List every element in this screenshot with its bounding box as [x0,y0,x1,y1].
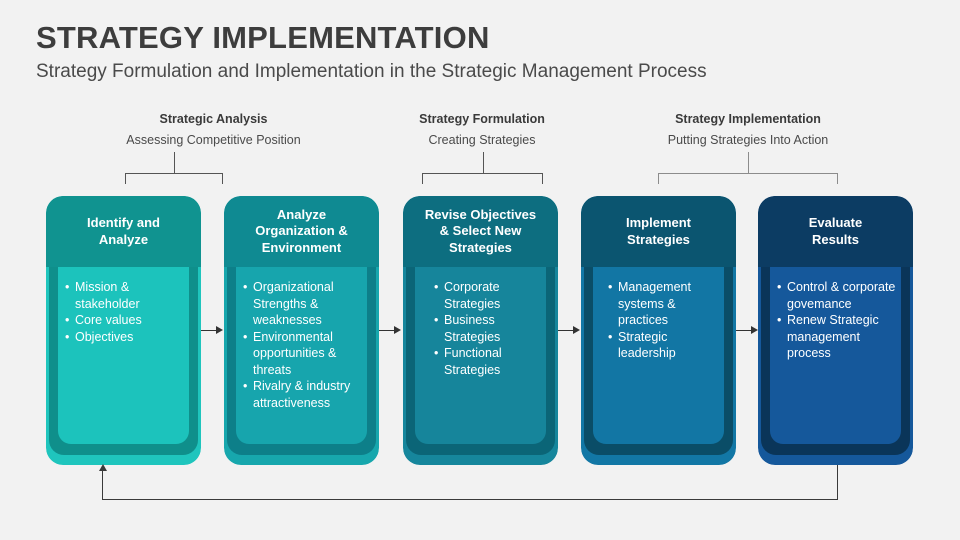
list-item-label: Functional Strategies [444,346,502,377]
step-bullet-list: •Management systems & practices •Strateg… [600,279,719,362]
bracket-tick-right [222,173,223,184]
step-heading: Revise Objectives & Select New Strategie… [417,207,544,257]
list-item: •Core values [65,312,184,329]
arrow-shaft [201,330,217,331]
process-step-analyze-organization-environment[interactable]: •Organizational Strengths & weaknesses •… [224,196,379,465]
bracket-tick-left [658,173,659,184]
flow-arrow-1-to-2 [201,326,223,335]
list-item: •Strategic leadership [608,329,719,362]
step-header: Implement Strategies [581,196,736,267]
step-header: Analyze Organization & Environment [224,196,379,267]
bullet-icon: • [434,345,438,362]
step-bullet-list: •Control & corporate govemance •Renew St… [777,279,896,362]
bullet-icon: • [608,279,612,296]
bracket-bar [658,173,838,174]
bracket-stem [483,152,484,173]
phase-title: Strategic Analysis [112,111,315,127]
bullet-icon: • [65,329,69,346]
bracket-bar [125,173,223,174]
bullet-icon: • [777,279,781,296]
arrow-shaft [736,330,752,331]
step-heading: Analyze Organization & Environment [247,207,355,257]
list-item: •Control & corporate govemance [777,279,896,312]
list-item-label: Strategic leadership [618,330,676,361]
bullet-icon: • [777,312,781,329]
arrow-head-icon [573,326,580,334]
list-item-label: Objectives [75,330,133,344]
step-heading: Evaluate Results [801,215,870,248]
bullet-icon: • [434,279,438,296]
step-panel: •Mission & stakeholder •Core values •Obj… [58,267,189,444]
phase-title: Strategy Implementation [648,111,848,127]
list-item: •Rivalry & industry attractiveness [243,378,362,411]
bullet-icon: • [243,329,247,346]
list-item: •Corporate Strategies [434,279,541,312]
bracket-stem [748,152,749,173]
loop-horizontal-line [102,499,838,500]
arrow-shaft [558,330,574,331]
loop-left-riser [102,471,103,500]
step-heading: Implement Strategies [618,215,699,248]
step-panel: •Management systems & practices •Strateg… [593,267,724,444]
list-item: •Mission & stakeholder [65,279,184,312]
list-item-label: Mission & stakeholder [75,280,140,311]
flow-arrow-3-to-4 [558,326,580,335]
bracket-tick-right [542,173,543,184]
bullet-icon: • [65,279,69,296]
list-item: •Management systems & practices [608,279,719,329]
bracket-tick-left [422,173,423,184]
list-item: •Renew Strategic management process [777,312,896,362]
phase-header-strategic-analysis: Strategic Analysis Assessing Competitive… [112,111,315,148]
arrow-head-icon [216,326,223,334]
step-panel: •Organizational Strengths & weaknesses •… [236,267,367,444]
phase-title: Strategy Formulation [382,111,582,127]
list-item-label: Business Strategies [444,313,500,344]
list-item-label: Renew Strategic management process [787,313,879,360]
step-heading: Identify and Analyze [79,215,168,248]
phase-header-strategy-implementation: Strategy Implementation Putting Strategi… [648,111,848,148]
step-header: Evaluate Results [758,196,913,267]
list-item-label: Management systems & practices [618,280,691,327]
bullet-icon: • [608,329,612,346]
bracket-bar [422,173,543,174]
process-step-identify-and-analyze[interactable]: •Mission & stakeholder •Core values •Obj… [46,196,201,465]
phase-subtitle: Assessing Competitive Position [112,132,315,148]
page-subtitle: Strategy Formulation and Implementation … [36,61,707,83]
phase-subtitle: Creating Strategies [382,132,582,148]
flow-arrow-2-to-3 [379,326,401,335]
list-item-label: Rivalry & industry attractiveness [253,379,350,410]
step-panel: •Control & corporate govemance •Renew St… [770,267,901,444]
process-step-evaluate-results[interactable]: •Control & corporate govemance •Renew St… [758,196,913,465]
flow-arrow-4-to-5 [736,326,758,335]
arrow-shaft [379,330,395,331]
process-step-revise-objectives-select-new-strategies[interactable]: •Corporate Strategies •Business Strategi… [403,196,558,465]
bullet-icon: • [243,279,247,296]
list-item-label: Organizational Strengths & weaknesses [253,280,334,327]
bullet-icon: • [243,378,247,395]
step-header: Identify and Analyze [46,196,201,267]
arrow-head-icon [751,326,758,334]
loop-right-riser [837,465,838,500]
phase-subtitle: Putting Strategies Into Action [648,132,848,148]
list-item: •Environmental opportunities & threats [243,329,362,379]
list-item-label: Environmental opportunities & threats [253,330,336,377]
bracket-strategic-analysis [125,163,223,185]
bullet-icon: • [434,312,438,329]
step-header: Revise Objectives & Select New Strategie… [403,196,558,267]
list-item: •Business Strategies [434,312,541,345]
list-item: •Functional Strategies [434,345,541,378]
step-bullet-list: •Organizational Strengths & weaknesses •… [243,279,362,411]
bullet-icon: • [65,312,69,329]
feedback-loop-connector [102,465,838,500]
list-item: •Objectives [65,329,184,346]
step-bullet-list: •Corporate Strategies •Business Strategi… [422,279,541,378]
slide-canvas: STRATEGY IMPLEMENTATION Strategy Formula… [0,0,960,540]
bracket-strategy-implementation [658,163,838,185]
arrow-head-icon [394,326,401,334]
bracket-tick-right [837,173,838,184]
list-item-label: Control & corporate govemance [787,280,895,311]
step-bullet-list: •Mission & stakeholder •Core values •Obj… [65,279,184,345]
bracket-tick-left [125,173,126,184]
arrow-head-icon [99,464,107,471]
list-item-label: Core values [75,313,142,327]
list-item-label: Corporate Strategies [444,280,500,311]
bracket-stem [174,152,175,173]
list-item: •Organizational Strengths & weaknesses [243,279,362,329]
process-step-implement-strategies[interactable]: •Management systems & practices •Strateg… [581,196,736,465]
step-panel: •Corporate Strategies •Business Strategi… [415,267,546,444]
bracket-strategy-formulation [422,163,543,185]
phase-header-strategy-formulation: Strategy Formulation Creating Strategies [382,111,582,148]
page-title: STRATEGY IMPLEMENTATION [36,20,490,56]
